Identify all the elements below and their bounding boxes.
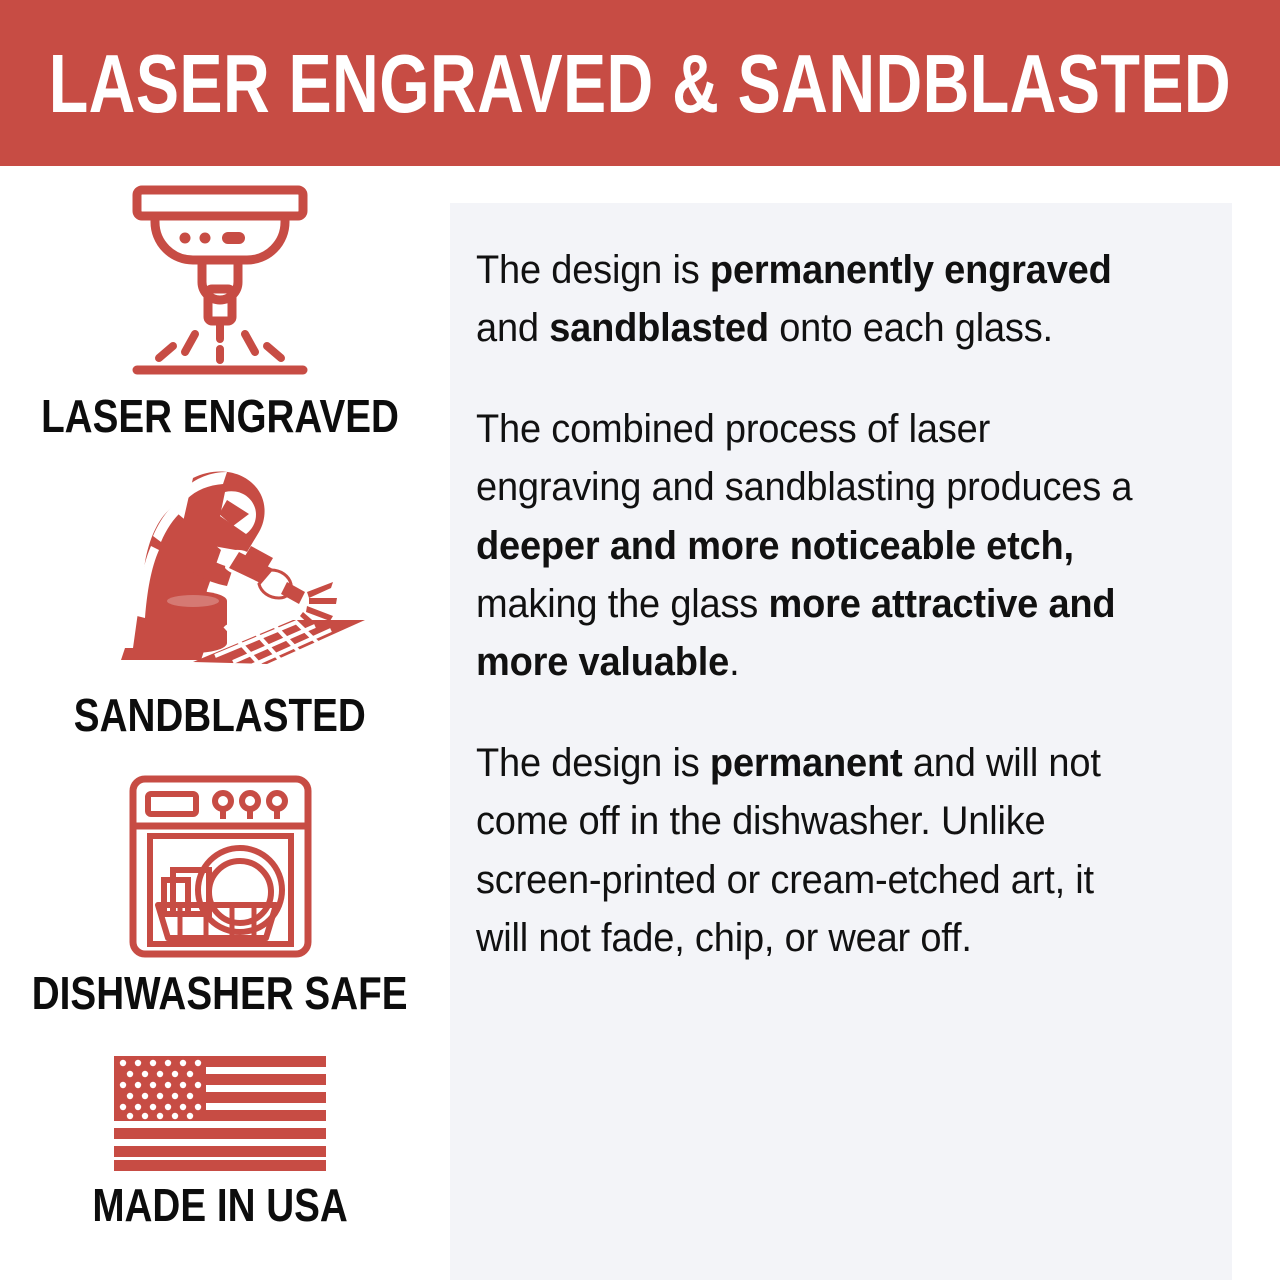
feature-made-in-usa: MADE IN USA	[0, 1056, 440, 1228]
emphasis-text: permanently engraved	[710, 248, 1112, 292]
feature-label-made-in-usa: MADE IN USA	[92, 1182, 347, 1228]
emphasis-text: deeper and more noticeable etch,	[476, 524, 1074, 568]
feature-column: LASER ENGRAVED	[0, 166, 440, 1280]
emphasis-text: sandblasted	[549, 306, 769, 350]
laser-engraver-icon	[115, 182, 325, 387]
body-text: The design is	[476, 248, 710, 292]
sandblaster-worker-icon	[75, 466, 365, 686]
body-text: The design is	[476, 741, 710, 785]
body-text: and	[476, 306, 549, 350]
page-title: LASER ENGRAVED & SANDBLASTED	[49, 42, 1231, 125]
feature-label-laser-engraved: LASER ENGRAVED	[41, 393, 399, 439]
feature-laser-engraved: LASER ENGRAVED	[0, 182, 440, 439]
content-area: LASER ENGRAVED	[0, 166, 1280, 1280]
header-banner: LASER ENGRAVED & SANDBLASTED	[0, 0, 1280, 166]
emphasis-text: permanent	[710, 741, 903, 785]
paragraph-permanent-dishwasher: The design is permanent and will not com…	[476, 734, 1152, 968]
feature-sandblasted: SANDBLASTED	[0, 466, 440, 738]
dishwasher-icon	[128, 774, 313, 964]
description-panel: The design is permanently engraved and s…	[450, 203, 1232, 1280]
paragraph-combined-process: The combined process of laser engraving …	[476, 400, 1152, 692]
body-text: .	[729, 640, 739, 684]
body-text: making the glass	[476, 582, 768, 626]
paragraph-permanently-engraved: The design is permanently engraved and s…	[476, 241, 1152, 358]
usa-flag-icon	[114, 1056, 326, 1176]
body-text: The combined process of laser engraving …	[476, 407, 1132, 509]
feature-dishwasher-safe: DISHWASHER SAFE	[0, 774, 440, 1016]
feature-label-sandblasted: SANDBLASTED	[74, 692, 366, 738]
feature-label-dishwasher-safe: DISHWASHER SAFE	[32, 970, 408, 1016]
body-text: onto each glass.	[769, 306, 1053, 350]
